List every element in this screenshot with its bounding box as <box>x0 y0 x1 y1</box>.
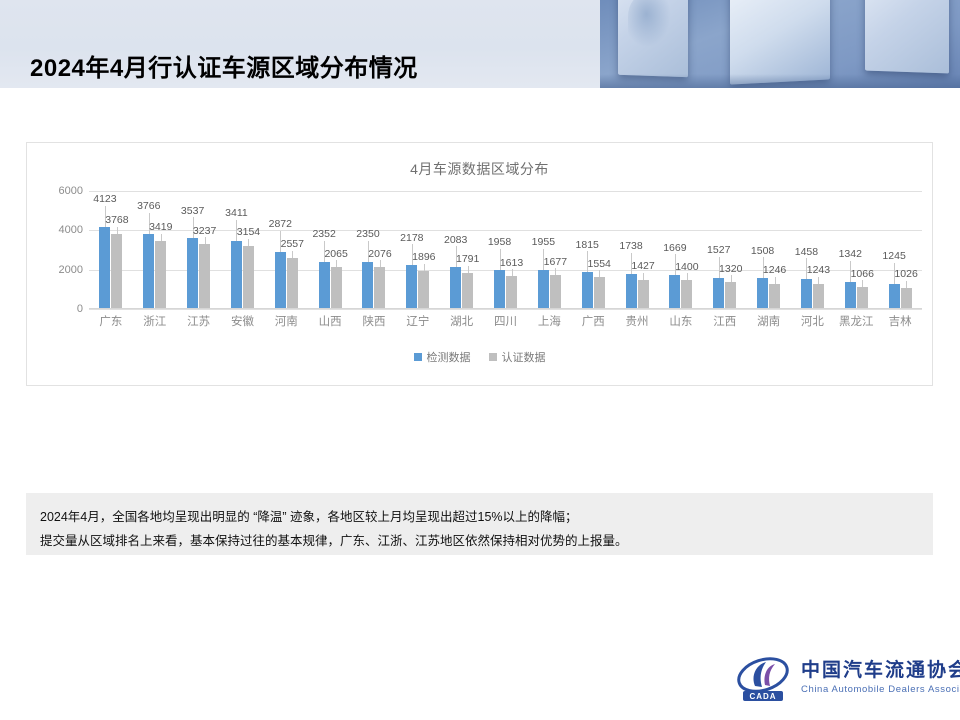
bar-blue: 1669 <box>669 275 680 308</box>
bar-gray: 1896 <box>418 271 429 308</box>
bar-blue: 1508 <box>757 278 768 308</box>
x-axis-label: 湖南 <box>747 313 791 329</box>
x-axis-label: 黑龙江 <box>834 313 878 329</box>
bar-group: 23522065 <box>308 191 352 308</box>
bar-group: 35373237 <box>177 191 221 308</box>
org-name-cn: 中国汽车流通协会 <box>801 661 960 682</box>
header-band: 2024年4月行认证车源区域分布情况 <box>0 0 960 88</box>
bar-blue: 2083 <box>450 267 461 308</box>
y-tick-label: 6000 <box>59 185 83 197</box>
legend-label: 检测数据 <box>427 349 471 365</box>
x-axis-label: 四川 <box>484 313 528 329</box>
y-tick-label: 2000 <box>59 264 83 276</box>
bar-blue: 2352 <box>319 262 330 308</box>
label-leader-line <box>248 239 249 246</box>
bar-group: 20831791 <box>440 191 484 308</box>
chart-plot-area: 0200040006000 41233768376634193537323734… <box>27 191 934 341</box>
bar-gray: 1320 <box>725 282 736 308</box>
bar-gray: 2076 <box>374 267 385 308</box>
label-leader-line <box>818 277 819 284</box>
bar-blue: 2178 <box>406 265 417 308</box>
bar-blue: 2350 <box>362 262 373 308</box>
bar-value-label: 3419 <box>149 222 172 233</box>
org-name-en: China Automobile Dealers Association <box>801 684 960 695</box>
bar-value-label: 1066 <box>851 269 874 280</box>
label-leader-line <box>687 273 688 280</box>
label-leader-line <box>117 227 118 234</box>
bar-gray: 2557 <box>287 258 298 308</box>
bar-value-label: 1958 <box>488 237 511 248</box>
bar-value-label: 2083 <box>444 235 467 246</box>
chart-legend: 检测数据认证数据 <box>27 349 932 365</box>
x-axis-label: 广东 <box>89 313 133 329</box>
bar-gray: 3419 <box>155 241 166 308</box>
label-leader-line <box>643 273 644 280</box>
world-map-texture-icon <box>628 0 674 53</box>
decorative-cube-icon <box>865 0 949 73</box>
bar-gray: 1427 <box>638 280 649 308</box>
bar-value-label: 4123 <box>93 194 116 205</box>
bar-blue: 3766 <box>143 234 154 308</box>
bar-gray: 1246 <box>769 284 780 309</box>
bar-gray: 1791 <box>462 273 473 308</box>
bar-value-label: 1458 <box>795 247 818 258</box>
x-axis-label: 湖北 <box>440 313 484 329</box>
note-box: 2024年4月，全国各地均呈现出明显的 “降温” 迹象，各地区较上月均呈现出超过… <box>26 493 933 555</box>
legend-swatch-icon <box>414 353 422 361</box>
label-leader-line <box>380 260 381 267</box>
bar-value-label: 1738 <box>619 241 642 252</box>
bar-group: 13421066 <box>834 191 878 308</box>
x-axis-label: 江西 <box>703 313 747 329</box>
bar-value-label: 1026 <box>894 269 917 280</box>
bar-group: 12451026 <box>878 191 922 308</box>
label-leader-line <box>862 280 863 287</box>
bar-value-label: 1613 <box>500 258 523 269</box>
bar-blue: 1527 <box>713 278 724 308</box>
bar-value-label: 3766 <box>137 201 160 212</box>
bar-group: 19551677 <box>527 191 571 308</box>
bar-gray: 2065 <box>331 267 342 308</box>
label-leader-line <box>599 270 600 277</box>
bar-gray: 1026 <box>901 288 912 308</box>
legend-label: 认证数据 <box>502 349 546 365</box>
bar-blue: 1738 <box>626 274 637 308</box>
bar-value-label: 1669 <box>663 243 686 254</box>
bar-blue: 1815 <box>582 272 593 308</box>
label-leader-line <box>555 268 556 275</box>
footer-logo-text: 中国汽车流通协会 China Automobile Dealers Associ… <box>801 661 960 695</box>
bar-value-label: 3537 <box>181 206 204 217</box>
bar-value-label: 1246 <box>763 265 786 276</box>
bar-blue: 3537 <box>187 238 198 308</box>
label-leader-line <box>161 234 162 241</box>
x-axis-label: 吉林 <box>878 313 922 329</box>
header-decoration-icon <box>600 0 960 88</box>
cada-logo-icon: CADA <box>735 653 791 703</box>
bar-blue: 4123 <box>99 227 110 308</box>
bar-value-label: 2352 <box>312 229 335 240</box>
bar-group: 14581243 <box>791 191 835 308</box>
bar-series-container: 4123376837663419353732373411315428722557… <box>89 191 922 308</box>
bar-group: 18151554 <box>571 191 615 308</box>
label-leader-line <box>906 281 907 288</box>
bar-blue: 3411 <box>231 241 242 308</box>
bar-group: 19581613 <box>484 191 528 308</box>
bar-value-label: 2065 <box>324 249 347 260</box>
x-axis-label: 江苏 <box>177 313 221 329</box>
x-axis-label: 河南 <box>264 313 308 329</box>
bar-blue: 1458 <box>801 279 812 308</box>
decorative-cube-icon <box>730 0 830 85</box>
bar-blue: 2872 <box>275 252 286 308</box>
bar-gray: 1066 <box>857 287 868 308</box>
footer-logo: CADA 中国汽车流通协会 China Automobile Dealers A… <box>735 650 945 706</box>
x-axis-line <box>89 308 922 309</box>
bar-blue: 1955 <box>538 270 549 308</box>
bar-gray: 3154 <box>243 246 254 308</box>
legend-item[interactable]: 认证数据 <box>489 349 546 365</box>
bar-value-label: 2076 <box>368 249 391 260</box>
bar-gray: 1400 <box>681 280 692 308</box>
bar-value-label: 1427 <box>631 261 654 272</box>
legend-swatch-icon <box>489 353 497 361</box>
bar-value-label: 3411 <box>225 208 248 219</box>
header-shadow <box>600 74 960 88</box>
chart-title: 4月车源数据区域分布 <box>27 159 932 179</box>
label-leader-line <box>424 264 425 271</box>
note-line-2: 提交量从区域排名上来看，基本保持过往的基本规律，广东、江浙、江苏地区依然保持相对… <box>40 529 919 553</box>
bar-value-label: 2178 <box>400 233 423 244</box>
bar-value-label: 3154 <box>237 227 260 238</box>
bar-value-label: 1554 <box>588 259 611 270</box>
bar-value-label: 2872 <box>269 219 292 230</box>
bar-gray: 3768 <box>111 234 122 308</box>
bar-gray: 1554 <box>594 277 605 308</box>
bar-blue: 1342 <box>845 282 856 308</box>
x-axis-label: 浙江 <box>133 313 177 329</box>
label-leader-line <box>336 260 337 267</box>
label-leader-line <box>731 275 732 282</box>
bar-value-label: 1342 <box>839 249 862 260</box>
bar-value-label: 2350 <box>356 229 379 240</box>
bar-value-label: 1955 <box>532 237 555 248</box>
bar-value-label: 3237 <box>193 226 216 237</box>
bar-value-label: 1815 <box>576 240 599 251</box>
x-axis-label: 上海 <box>527 313 571 329</box>
bar-value-label: 1896 <box>412 252 435 263</box>
x-axis-label: 安徽 <box>221 313 265 329</box>
bar-blue: 1958 <box>494 270 505 309</box>
bar-gray: 1677 <box>550 275 561 308</box>
bar-group: 17381427 <box>615 191 659 308</box>
label-leader-line <box>775 277 776 284</box>
bar-value-label: 1791 <box>456 254 479 265</box>
bar-blue: 1245 <box>889 284 900 308</box>
x-axis-label: 贵州 <box>615 313 659 329</box>
x-axis-label: 陕西 <box>352 313 396 329</box>
note-line-1: 2024年4月，全国各地均呈现出明显的 “降温” 迹象，各地区较上月均呈现出超过… <box>40 505 919 529</box>
bar-gray: 3237 <box>199 244 210 308</box>
legend-item[interactable]: 检测数据 <box>414 349 471 365</box>
bar-value-label: 1243 <box>807 265 830 276</box>
x-axis-label: 河北 <box>791 313 835 329</box>
gridline <box>89 309 922 310</box>
x-axis-label: 辽宁 <box>396 313 440 329</box>
bar-group: 28722557 <box>264 191 308 308</box>
x-axis-label: 山东 <box>659 313 703 329</box>
y-tick-label: 4000 <box>59 224 83 236</box>
bar-value-label: 3768 <box>105 215 128 226</box>
bar-group: 15271320 <box>703 191 747 308</box>
x-axis-label: 山西 <box>308 313 352 329</box>
decorative-cube-icon <box>618 0 688 77</box>
plot-grid: 4123376837663419353732373411315428722557… <box>89 191 922 309</box>
bar-gray: 1613 <box>506 276 517 308</box>
label-leader-line <box>292 251 293 258</box>
bar-value-label: 1508 <box>751 246 774 257</box>
bar-group: 15081246 <box>747 191 791 308</box>
chart-panel: 4月车源数据区域分布 0200040006000 412337683766341… <box>26 142 933 386</box>
bar-group: 37663419 <box>133 191 177 308</box>
label-leader-line <box>512 269 513 276</box>
bar-value-label: 2557 <box>281 239 304 250</box>
x-axis-label: 广西 <box>571 313 615 329</box>
bar-gray: 1243 <box>813 284 824 308</box>
bar-group: 41233768 <box>89 191 133 308</box>
bar-value-label: 1677 <box>544 257 567 268</box>
svg-text:CADA: CADA <box>749 692 776 701</box>
bar-value-label: 1245 <box>882 251 905 262</box>
cada-logo-svg: CADA <box>735 653 791 703</box>
bar-group: 16691400 <box>659 191 703 308</box>
bar-group: 23502076 <box>352 191 396 308</box>
bar-group: 34113154 <box>221 191 265 308</box>
y-axis: 0200040006000 <box>35 191 83 309</box>
bar-value-label: 1320 <box>719 264 742 275</box>
page-title: 2024年4月行认证车源区域分布情况 <box>30 48 418 83</box>
y-tick-label: 0 <box>77 303 83 315</box>
label-leader-line <box>468 266 469 273</box>
bar-group: 21781896 <box>396 191 440 308</box>
bar-value-label: 1400 <box>675 262 698 273</box>
x-axis-labels: 广东浙江江苏安徽河南山西陕西辽宁湖北四川上海广西贵州山东江西湖南河北黑龙江吉林 <box>89 313 922 329</box>
label-leader-line <box>205 237 206 244</box>
bar-value-label: 1527 <box>707 245 730 256</box>
